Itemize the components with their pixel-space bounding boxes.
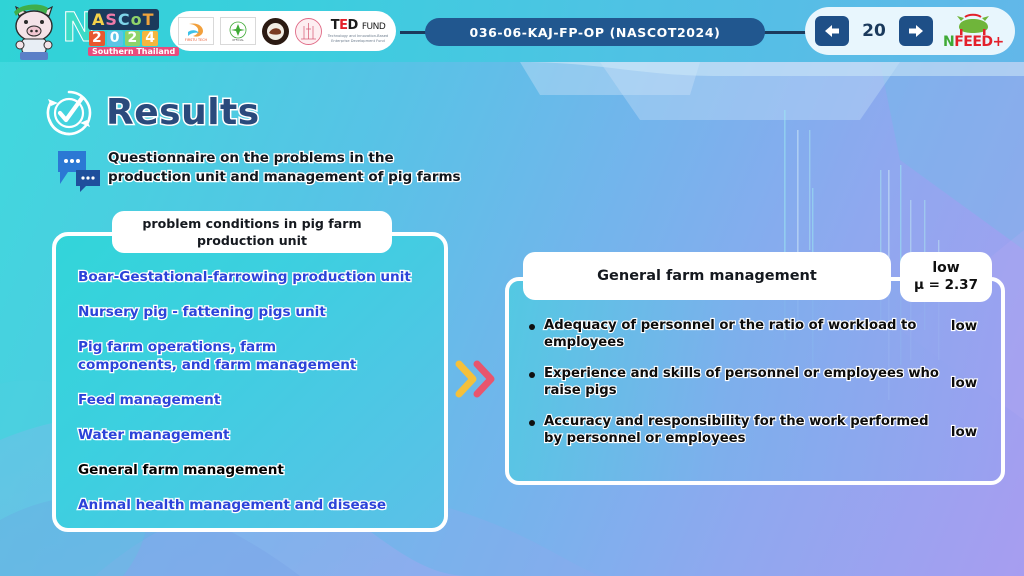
list-item[interactable]: Boar-Gestational-farrowing production un…	[78, 268, 422, 286]
check-circle-refresh-icon	[42, 86, 96, 140]
general-farm-management-panel: Adequacy of personnel or the ratio of wo…	[505, 277, 1005, 485]
svg-text:OFFICIAL: OFFICIAL	[232, 38, 244, 42]
problem-conditions-tab: problem conditions in pig farm productio…	[112, 211, 392, 253]
next-slide-button[interactable]	[899, 16, 933, 46]
list-item: Experience and skills of personnel or em…	[527, 365, 987, 399]
list-item[interactable]: Pig farm operations, farm components, an…	[78, 338, 378, 374]
prev-slide-button[interactable]	[815, 16, 849, 46]
page-title: Results	[106, 92, 260, 133]
list-item-selected[interactable]: General farm management	[78, 461, 422, 479]
general-farm-management-title: General farm management	[523, 252, 891, 300]
finding-level: low	[941, 318, 987, 334]
bullet-icon	[529, 372, 535, 378]
finding-level: low	[941, 424, 987, 440]
status-badge-mean: μ = 2.37	[914, 277, 978, 294]
nascot-logo-tagline: Southern Thailand	[88, 47, 179, 56]
green-leaf-logo: OFFICIAL	[220, 17, 256, 45]
page-subtitle: Questionnaire on the problems in the pro…	[108, 149, 461, 187]
slide-nav-bar: 20 NFEED+	[805, 7, 1015, 55]
problem-conditions-tab-line2: production unit	[142, 232, 361, 249]
list-item[interactable]: Nursery pig - fattening pigs unit	[78, 303, 422, 321]
double-chevron-right-icon	[455, 358, 501, 400]
page-subtitle-line2: production unit and management of pig fa…	[108, 168, 461, 187]
nascot-logo-word: ASCoT	[88, 9, 159, 30]
ted-label: TED	[331, 18, 358, 33]
nascot-logo-year: 2024	[89, 31, 158, 46]
status-badge: low μ = 2.37	[900, 252, 992, 302]
nfeed-n: N	[943, 34, 954, 50]
nascot-logo: N ASCoT 2024 Southern Thailand	[62, 6, 166, 58]
project-code-badge: 036-06-KAJ-FP-OP (NASCOT2024)	[425, 18, 765, 46]
nfeed-plus: +	[993, 34, 1004, 50]
project-code-text: 036-06-KAJ-FP-OP (NASCOT2024)	[470, 25, 721, 40]
arrow-left-icon	[823, 23, 841, 39]
problem-conditions-panel: Boar-Gestational-farrowing production un…	[52, 232, 448, 532]
list-item[interactable]: Water management	[78, 426, 422, 444]
finding-text: Experience and skills of personnel or em…	[544, 365, 941, 399]
page-number: 20	[857, 21, 891, 41]
slide-root: N ASCoT 2024 Southern Thailand FIRSTU TE…	[0, 0, 1024, 576]
nfeed-logo: NFEED+	[943, 13, 1004, 49]
finding-level: low	[941, 375, 987, 391]
finding-text: Accuracy and responsibility for the work…	[544, 413, 941, 447]
finding-text: Adequacy of personnel or the ratio of wo…	[544, 317, 941, 351]
pink-seal-logo	[295, 18, 322, 45]
firstu-tech-logo: FIRSTU TECH	[178, 17, 214, 45]
status-badge-level: low	[932, 260, 959, 277]
list-item[interactable]: Feed management	[78, 391, 422, 409]
ted-fund-logo: TED FUND Technology and Innovation-Based…	[328, 19, 388, 43]
problem-conditions-tab-line1: problem conditions in pig farm	[142, 215, 361, 232]
pig-mascot-icon	[6, 2, 62, 60]
bullet-icon	[529, 324, 535, 330]
sponsor-logo-strip: FIRSTU TECH OFFICIAL	[170, 11, 396, 51]
nfeed-pig-icon	[951, 13, 995, 35]
speech-bubbles-icon	[56, 148, 102, 192]
findings-list: Adequacy of personnel or the ratio of wo…	[509, 317, 1001, 461]
svg-text:FIRSTU TECH: FIRSTU TECH	[185, 38, 208, 42]
page-subtitle-line1: Questionnaire on the problems in the	[108, 149, 461, 168]
list-item[interactable]: Animal health management and disease	[78, 496, 422, 514]
nfeed-feed: FEED	[954, 34, 992, 50]
list-item: Adequacy of personnel or the ratio of wo…	[527, 317, 987, 351]
arrow-right-icon	[907, 23, 925, 39]
list-item: Accuracy and responsibility for the work…	[527, 413, 987, 447]
problem-conditions-list: Boar-Gestational-farrowing production un…	[56, 268, 444, 531]
dark-seal-logo	[262, 18, 289, 45]
bullet-icon	[529, 420, 535, 426]
